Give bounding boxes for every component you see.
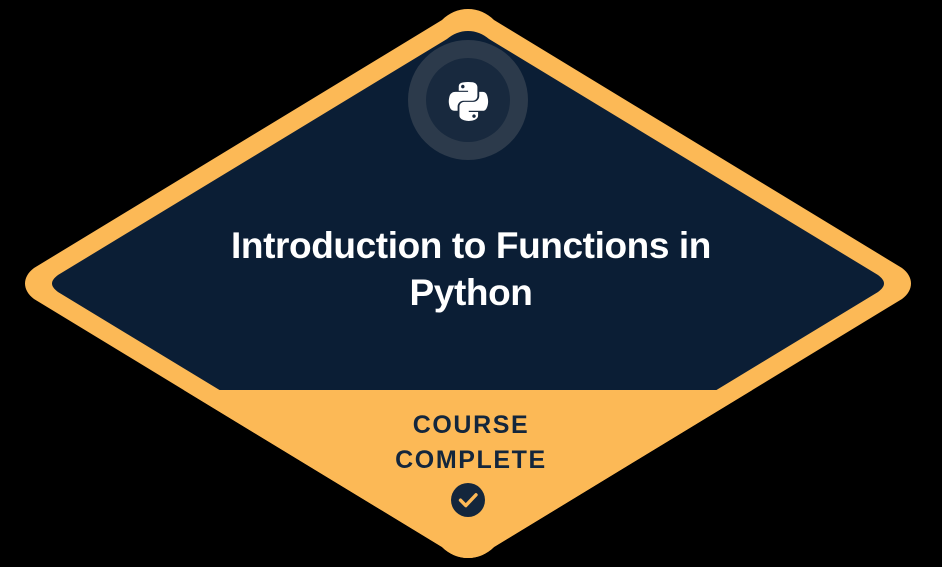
course-completion-badge: Introduction to Functions in Python COUR… xyxy=(0,0,942,567)
badge-graphic xyxy=(0,0,942,567)
check-circle-bg xyxy=(451,483,485,517)
check-circle-icon xyxy=(451,483,485,517)
diamond-amber-band xyxy=(0,390,942,567)
